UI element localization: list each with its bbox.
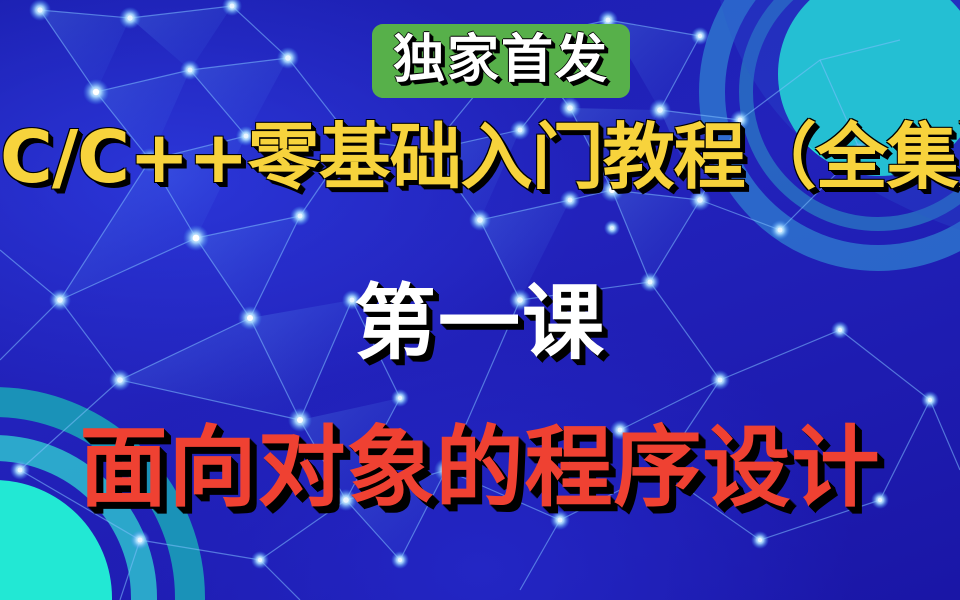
exclusive-release-badge: 独家首发 bbox=[372, 24, 630, 98]
badge-label: 独家首发 bbox=[393, 34, 609, 88]
video-thumbnail-poster: 独家首发 C/C++零基础入门教程（全集） 第一课 面向对象的程序设计 bbox=[0, 0, 960, 600]
lesson-topic: 面向对象的程序设计 bbox=[0, 424, 960, 512]
lesson-number: 第一课 bbox=[0, 283, 960, 365]
course-title: C/C++零基础入门教程（全集） bbox=[0, 118, 960, 197]
